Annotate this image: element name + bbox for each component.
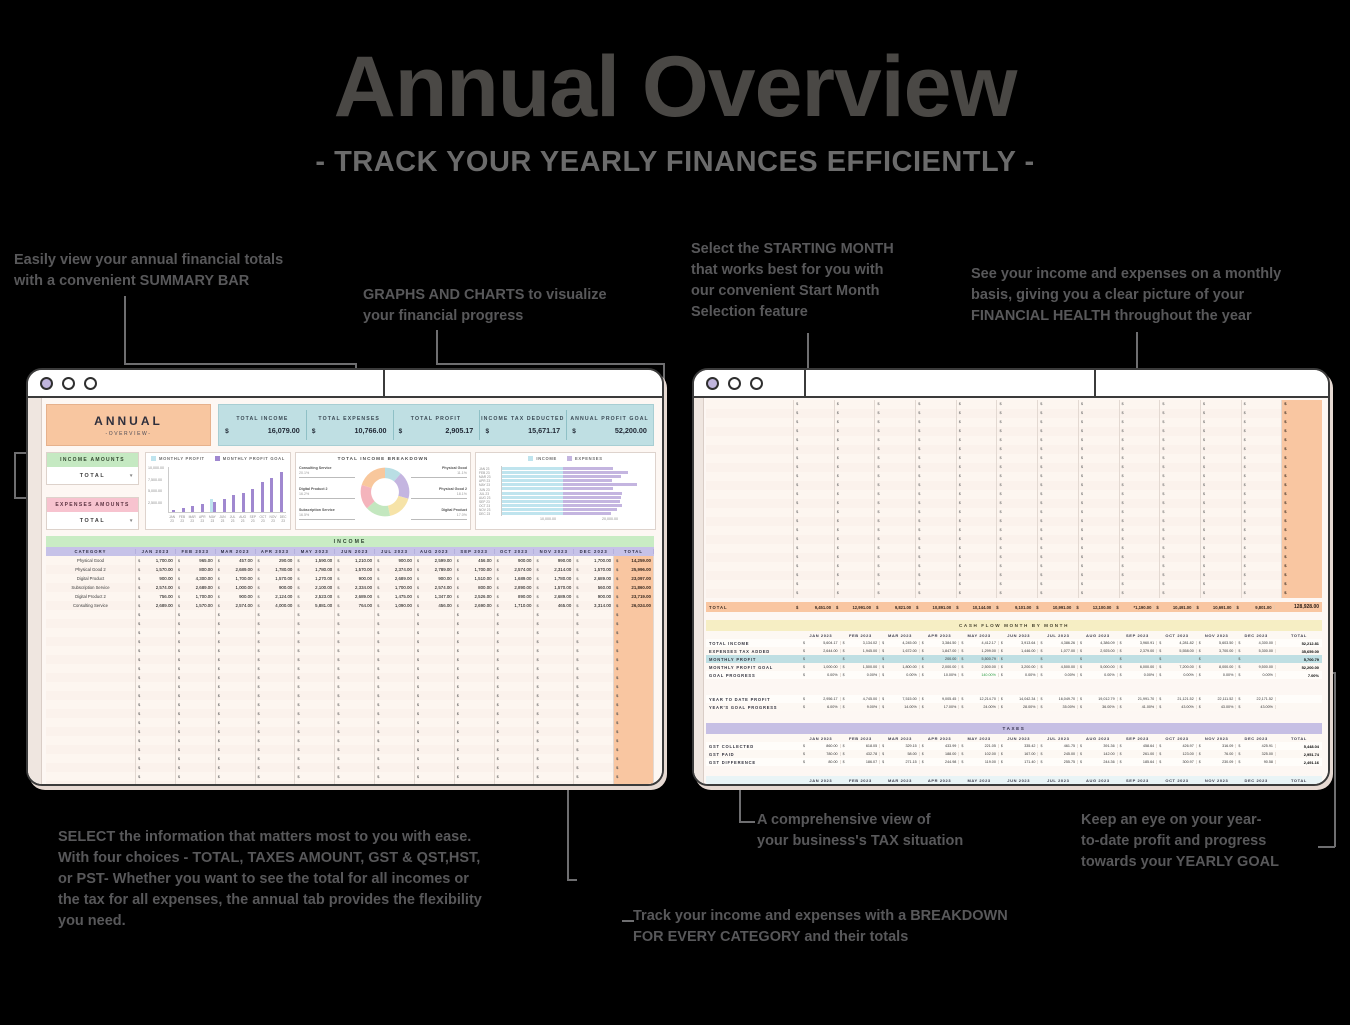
- value-cell[interactable]: $: [1038, 427, 1079, 436]
- value-cell[interactable]: $: [495, 709, 535, 718]
- value-cell[interactable]: $: [835, 508, 876, 517]
- table-row[interactable]: $$$$$$$$$$$$$: [46, 781, 654, 784]
- value-cell[interactable]: $: [1242, 508, 1283, 517]
- value-cell[interactable]: $: [997, 535, 1038, 544]
- value-cell[interactable]: $5,000.00: [1078, 665, 1118, 669]
- value-cell[interactable]: $: [1160, 508, 1201, 517]
- category-cell[interactable]: [706, 481, 794, 490]
- value-cell[interactable]: $: [375, 619, 415, 628]
- column-header[interactable]: JUN 2023: [999, 778, 1039, 783]
- value-cell[interactable]: $2,574.00: [495, 565, 535, 574]
- value-cell[interactable]: $: [295, 664, 335, 673]
- income-amounts-selector[interactable]: INCOME AMOUNTS TOTAL ▾: [46, 452, 139, 485]
- value-cell[interactable]: $: [1201, 508, 1242, 517]
- pst-section[interactable]: JAN 2023FEB 2023MAR 2023APR 2023MAY 2023…: [706, 776, 1322, 784]
- value-cell[interactable]: $22,171.52: [1236, 697, 1276, 701]
- value-cell[interactable]: $: [415, 664, 455, 673]
- value-cell[interactable]: $: [495, 736, 535, 745]
- value-cell[interactable]: $: [176, 691, 216, 700]
- value-cell[interactable]: $900.00: [256, 583, 296, 592]
- column-header[interactable]: MAR 2023: [880, 633, 920, 638]
- value-cell[interactable]: $: [916, 400, 957, 409]
- value-cell[interactable]: $: [1160, 535, 1201, 544]
- value-cell[interactable]: $: [916, 589, 957, 598]
- value-cell[interactable]: $1,689.00: [495, 574, 535, 583]
- value-cell[interactable]: $: [1120, 562, 1161, 571]
- value-cell[interactable]: $: [534, 691, 574, 700]
- column-header[interactable]: FEB 2023: [841, 736, 881, 741]
- value-cell[interactable]: $: [335, 745, 375, 754]
- value-cell[interactable]: $: [1079, 418, 1120, 427]
- column-header[interactable]: TOTAL: [1276, 778, 1322, 783]
- value-cell[interactable]: $: [534, 610, 574, 619]
- value-cell[interactable]: $: [1201, 454, 1242, 463]
- value-cell[interactable]: $: [835, 427, 876, 436]
- value-cell[interactable]: $: [794, 445, 835, 454]
- value-cell[interactable]: $: [495, 691, 535, 700]
- value-cell[interactable]: $4,281.82: [1157, 641, 1197, 645]
- value-cell[interactable]: $: [875, 589, 916, 598]
- value-cell[interactable]: $167.00: [999, 752, 1039, 756]
- value-cell[interactable]: $: [176, 682, 216, 691]
- value-cell[interactable]: $244.36: [1078, 760, 1118, 764]
- value-cell[interactable]: $: [574, 754, 614, 763]
- value-cell[interactable]: $: [1038, 508, 1079, 517]
- value-cell[interactable]: $: [375, 637, 415, 646]
- category-cell[interactable]: [706, 418, 794, 427]
- value-cell[interactable]: $: [216, 709, 256, 718]
- category-cell[interactable]: [706, 508, 794, 517]
- value-cell[interactable]: $: [835, 589, 876, 598]
- column-header[interactable]: JUL 2023: [1038, 633, 1078, 638]
- category-cell[interactable]: [706, 571, 794, 580]
- value-cell[interactable]: $: [1038, 580, 1079, 589]
- table-row[interactable]: GST DIFFERENCE$80.00$186.07$271.15$244.9…: [706, 758, 1322, 766]
- value-cell[interactable]: $: [256, 637, 296, 646]
- value-cell[interactable]: $: [1120, 517, 1161, 526]
- value-cell[interactable]: $329.15: [880, 744, 920, 748]
- value-cell[interactable]: $: [916, 553, 957, 562]
- value-cell[interactable]: $900.00: [415, 574, 455, 583]
- value-cell[interactable]: $4,386.26: [1038, 641, 1078, 645]
- value-cell[interactable]: $: [176, 655, 216, 664]
- value-cell[interactable]: $: [875, 454, 916, 463]
- value-cell[interactable]: $: [375, 709, 415, 718]
- value-cell[interactable]: $: [295, 763, 335, 772]
- column-header[interactable]: MAR 2023: [880, 778, 920, 783]
- value-cell[interactable]: $: [916, 535, 957, 544]
- table-row[interactable]: MONTHLY PROFIT GOAL$1,000.00$1,500.00$1,…: [706, 663, 1322, 671]
- category-cell[interactable]: [46, 682, 136, 691]
- value-cell[interactable]: $: [176, 745, 216, 754]
- value-cell[interactable]: $: [957, 499, 998, 508]
- value-cell[interactable]: $: [1201, 526, 1242, 535]
- column-header[interactable]: JUN 2023: [335, 549, 375, 554]
- left-spreadsheet[interactable]: ANNUAL -OVERVIEW- TOTAL INCOME$16,079.00…: [28, 398, 662, 784]
- table-row[interactable]: $$$$$$$$$$$$$: [706, 472, 1322, 481]
- value-cell[interactable]: $1,077.00: [1038, 649, 1078, 653]
- value-cell[interactable]: $: [835, 418, 876, 427]
- value-cell[interactable]: $433.99: [920, 744, 960, 748]
- table-row[interactable]: $$$$$$$$$$$$$: [706, 418, 1322, 427]
- value-cell[interactable]: $: [534, 637, 574, 646]
- table-row[interactable]: Digital Product$900.00$4,300.00$1,700.00…: [46, 574, 654, 583]
- value-cell[interactable]: $5,558.00: [1157, 649, 1197, 653]
- value-cell[interactable]: $2,689.00: [335, 592, 375, 601]
- value-cell[interactable]: $: [1079, 526, 1120, 535]
- category-cell[interactable]: [46, 637, 136, 646]
- table-row[interactable]: $$$$$$$$$$$$$: [46, 718, 654, 727]
- value-cell[interactable]: $465.00: [534, 601, 574, 610]
- value-cell[interactable]: $: [415, 781, 455, 784]
- value-cell[interactable]: $800.00: [455, 583, 495, 592]
- value-cell[interactable]: $: [1242, 535, 1283, 544]
- value-cell[interactable]: $: [534, 700, 574, 709]
- value-cell[interactable]: $: [1242, 436, 1283, 445]
- value-cell[interactable]: $22,111.52: [1197, 697, 1237, 701]
- category-cell[interactable]: [706, 499, 794, 508]
- value-cell[interactable]: $2,690.00: [455, 601, 495, 610]
- table-row[interactable]: $$$$$$$$$$$$$: [46, 763, 654, 772]
- value-cell[interactable]: $0.00%: [1038, 673, 1078, 677]
- column-header[interactable]: JUL 2023: [375, 549, 415, 554]
- value-cell[interactable]: $: [136, 664, 176, 673]
- value-cell[interactable]: $3,134.02: [841, 641, 881, 645]
- value-cell[interactable]: $: [415, 718, 455, 727]
- value-cell[interactable]: $: [216, 628, 256, 637]
- value-cell[interactable]: $: [835, 400, 876, 409]
- value-cell[interactable]: $: [997, 562, 1038, 571]
- value-cell[interactable]: $: [916, 463, 957, 472]
- value-cell[interactable]: $: [1201, 499, 1242, 508]
- value-cell[interactable]: $: [1038, 490, 1079, 499]
- value-cell[interactable]: $: [375, 655, 415, 664]
- value-cell[interactable]: $: [1160, 490, 1201, 499]
- value-cell[interactable]: $: [136, 610, 176, 619]
- table-row[interactable]: YEAR'S GOAL PROGRESS$6.00%$9.00%$14.00%$…: [706, 703, 1322, 711]
- value-cell[interactable]: $: [335, 610, 375, 619]
- value-cell[interactable]: $: [1160, 454, 1201, 463]
- value-cell[interactable]: $391.36: [1078, 744, 1118, 748]
- column-header[interactable]: MAY 2023: [295, 549, 335, 554]
- value-cell[interactable]: $: [1079, 517, 1120, 526]
- category-cell[interactable]: Physical Good 2: [46, 565, 136, 574]
- value-cell[interactable]: $: [415, 709, 455, 718]
- ytd-section[interactable]: YEAR TO DATE PROFIT$2,956.17$4,745.00$7,…: [706, 695, 1322, 711]
- value-cell[interactable]: $: [1160, 427, 1201, 436]
- column-header[interactable]: JAN 2023: [801, 736, 841, 741]
- table-row[interactable]: $$$$$$$$$$$$$: [706, 445, 1322, 454]
- value-cell[interactable]: $: [916, 508, 957, 517]
- value-cell[interactable]: $: [415, 646, 455, 655]
- column-header[interactable]: NOV 2023: [1197, 633, 1237, 638]
- category-cell[interactable]: [706, 463, 794, 472]
- value-cell[interactable]: $: [375, 691, 415, 700]
- value-cell[interactable]: $4,412.17: [959, 641, 999, 645]
- table-row[interactable]: $$$$$$$$$$$$$: [46, 655, 654, 664]
- column-header[interactable]: TOTAL: [1276, 736, 1322, 741]
- value-cell[interactable]: $: [295, 628, 335, 637]
- value-cell[interactable]: $3,200.00: [999, 665, 1039, 669]
- value-cell[interactable]: $325.00: [1236, 752, 1276, 756]
- value-cell[interactable]: $: [375, 781, 415, 784]
- value-cell[interactable]: $: [295, 745, 335, 754]
- value-cell[interactable]: $0.00%: [1078, 673, 1118, 677]
- value-cell[interactable]: $: [835, 517, 876, 526]
- table-row[interactable]: $$$$$$$$$$$$$: [46, 709, 654, 718]
- value-cell[interactable]: $: [256, 727, 296, 736]
- value-cell[interactable]: $: [216, 637, 256, 646]
- value-cell[interactable]: $: [256, 781, 296, 784]
- value-cell[interactable]: $200.00: [920, 657, 960, 661]
- value-cell[interactable]: $: [835, 472, 876, 481]
- value-cell[interactable]: $90.58: [1236, 760, 1276, 764]
- column-header[interactable]: OCT 2023: [1157, 633, 1197, 638]
- value-cell[interactable]: $21,991.70: [1118, 697, 1158, 701]
- value-cell[interactable]: $: [1079, 562, 1120, 571]
- value-cell[interactable]: $: [534, 754, 574, 763]
- category-cell[interactable]: Digital Product 2: [46, 592, 136, 601]
- value-cell[interactable]: $: [415, 745, 455, 754]
- value-cell[interactable]: $: [295, 772, 335, 781]
- value-cell[interactable]: $: [1120, 409, 1161, 418]
- value-cell[interactable]: $: [335, 781, 375, 784]
- value-cell[interactable]: $: [1160, 400, 1201, 409]
- value-cell[interactable]: $: [875, 526, 916, 535]
- value-cell[interactable]: $1,510.00: [455, 574, 495, 583]
- value-cell[interactable]: $: [997, 589, 1038, 598]
- value-cell[interactable]: $: [794, 499, 835, 508]
- value-cell[interactable]: $: [534, 727, 574, 736]
- value-cell[interactable]: $3,314.00: [574, 601, 614, 610]
- value-cell[interactable]: $: [375, 610, 415, 619]
- value-cell[interactable]: $: [1201, 490, 1242, 499]
- value-cell[interactable]: $: [415, 610, 455, 619]
- column-header[interactable]: AUG 2023: [1078, 736, 1118, 741]
- value-cell[interactable]: $: [216, 655, 256, 664]
- value-cell[interactable]: $: [1201, 562, 1242, 571]
- value-cell[interactable]: $: [1079, 535, 1120, 544]
- category-cell[interactable]: Consulting Service: [46, 601, 136, 610]
- value-cell[interactable]: $: [997, 481, 1038, 490]
- category-cell[interactable]: [46, 772, 136, 781]
- value-cell[interactable]: $: [875, 472, 916, 481]
- value-cell[interactable]: $: [415, 763, 455, 772]
- value-cell[interactable]: $: [1079, 400, 1120, 409]
- column-header[interactable]: TOTAL: [614, 549, 654, 554]
- table-row[interactable]: GST COLLECTED$860.00$618.05$329.15$433.9…: [706, 742, 1322, 750]
- category-cell[interactable]: [706, 544, 794, 553]
- value-cell[interactable]: $1,780.00: [256, 565, 296, 574]
- category-cell[interactable]: [706, 445, 794, 454]
- value-cell[interactable]: $: [1120, 490, 1161, 499]
- value-cell[interactable]: $8,000.00: [1197, 665, 1237, 669]
- value-cell[interactable]: $: [495, 682, 535, 691]
- category-cell[interactable]: Subscription Service: [46, 583, 136, 592]
- value-cell[interactable]: $: [216, 691, 256, 700]
- value-cell[interactable]: $19,012.79: [1078, 697, 1118, 701]
- value-cell[interactable]: $1,570.00: [256, 574, 296, 583]
- value-cell[interactable]: $: [335, 754, 375, 763]
- value-cell[interactable]: $: [335, 628, 375, 637]
- value-cell[interactable]: $1,780.00: [534, 574, 574, 583]
- value-cell[interactable]: $43.00%: [1157, 705, 1197, 709]
- value-cell[interactable]: $: [136, 691, 176, 700]
- value-cell[interactable]: $: [574, 610, 614, 619]
- column-header[interactable]: MAY 2023: [959, 633, 999, 638]
- value-cell[interactable]: $: [256, 736, 296, 745]
- window-maximize-button[interactable]: [750, 377, 763, 390]
- value-cell[interactable]: $: [1079, 409, 1120, 418]
- column-header[interactable]: JAN 2023: [801, 778, 841, 783]
- value-cell[interactable]: $: [1160, 571, 1201, 580]
- value-cell[interactable]: $: [835, 445, 876, 454]
- table-row[interactable]: $$$$$$$$$$$$$: [706, 589, 1322, 598]
- value-cell[interactable]: $: [1120, 544, 1161, 553]
- value-cell[interactable]: $: [136, 718, 176, 727]
- value-cell[interactable]: $: [176, 646, 216, 655]
- value-cell[interactable]: $43.00%: [1197, 705, 1237, 709]
- category-cell[interactable]: [706, 562, 794, 571]
- value-cell[interactable]: $: [455, 619, 495, 628]
- category-cell[interactable]: [46, 673, 136, 682]
- value-cell[interactable]: $244.98: [920, 760, 960, 764]
- category-cell[interactable]: [46, 781, 136, 784]
- value-cell[interactable]: $: [295, 754, 335, 763]
- value-cell[interactable]: $: [335, 619, 375, 628]
- value-cell[interactable]: $: [1038, 445, 1079, 454]
- value-cell[interactable]: $: [1201, 589, 1242, 598]
- value-cell[interactable]: $: [1079, 508, 1120, 517]
- value-cell[interactable]: $: [1160, 499, 1201, 508]
- table-row[interactable]: $$$$$$$$$$$$$: [706, 463, 1322, 472]
- value-cell[interactable]: $: [794, 571, 835, 580]
- value-cell[interactable]: $: [136, 682, 176, 691]
- value-cell[interactable]: $: [295, 700, 335, 709]
- column-header[interactable]: FEB 2023: [841, 633, 881, 638]
- value-cell[interactable]: $: [574, 772, 614, 781]
- column-header[interactable]: SEP 2023: [1118, 778, 1158, 783]
- value-cell[interactable]: $: [335, 637, 375, 646]
- value-cell[interactable]: $: [495, 655, 535, 664]
- gst-rows[interactable]: GST COLLECTED$860.00$618.05$329.15$433.9…: [706, 742, 1322, 766]
- ytd-rows[interactable]: YEAR TO DATE PROFIT$2,956.17$4,745.00$7,…: [706, 695, 1322, 711]
- value-cell[interactable]: $: [216, 664, 256, 673]
- table-row[interactable]: $$$$$$$$$$$$$: [706, 400, 1322, 409]
- table-row[interactable]: $$$$$$$$$$$$$: [706, 409, 1322, 418]
- value-cell[interactable]: $: [534, 646, 574, 655]
- value-cell[interactable]: $: [875, 490, 916, 499]
- value-cell[interactable]: $: [1120, 427, 1161, 436]
- table-row[interactable]: $$$$$$$$$$$$$: [46, 772, 654, 781]
- value-cell[interactable]: $221.05: [959, 744, 999, 748]
- value-cell[interactable]: $: [455, 691, 495, 700]
- value-cell[interactable]: $: [1079, 427, 1120, 436]
- value-cell[interactable]: $: [997, 499, 1038, 508]
- value-cell[interactable]: $: [997, 400, 1038, 409]
- value-cell[interactable]: $: [415, 727, 455, 736]
- value-cell[interactable]: $: [1201, 445, 1242, 454]
- value-cell[interactable]: $: [295, 610, 335, 619]
- value-cell[interactable]: $: [916, 418, 957, 427]
- expenses-amounts-selector[interactable]: EXPENSES AMOUNTS TOTAL ▾: [46, 497, 139, 530]
- value-cell[interactable]: $43.00%: [1236, 705, 1276, 709]
- value-cell[interactable]: $0.00%: [1236, 673, 1276, 677]
- value-cell[interactable]: $2,574.00: [136, 583, 176, 592]
- value-cell[interactable]: $: [875, 508, 916, 517]
- value-cell[interactable]: $: [835, 463, 876, 472]
- table-row[interactable]: Subscription Service$2,574.00$2,689.00$1…: [46, 583, 654, 592]
- value-cell[interactable]: $: [216, 646, 256, 655]
- value-cell[interactable]: $: [1120, 571, 1161, 580]
- window-maximize-button[interactable]: [84, 377, 97, 390]
- column-header[interactable]: APR 2023: [920, 778, 960, 783]
- value-cell[interactable]: $: [176, 610, 216, 619]
- column-header[interactable]: MAR 2023: [880, 736, 920, 741]
- value-cell[interactable]: $185.64: [1118, 760, 1158, 764]
- value-cell[interactable]: $: [916, 472, 957, 481]
- value-cell[interactable]: $: [574, 655, 614, 664]
- table-row[interactable]: $$$$$$$$$$$$$: [706, 526, 1322, 535]
- value-cell[interactable]: $: [534, 655, 574, 664]
- value-cell[interactable]: $: [495, 781, 535, 784]
- value-cell[interactable]: $425.91: [1236, 744, 1276, 748]
- category-cell[interactable]: [46, 664, 136, 673]
- column-header[interactable]: FEB 2023: [841, 778, 881, 783]
- table-row[interactable]: $$$$$$$$$$$$$: [46, 745, 654, 754]
- value-cell[interactable]: $: [957, 589, 998, 598]
- value-cell[interactable]: $: [997, 418, 1038, 427]
- value-cell[interactable]: $2,523.00: [295, 592, 335, 601]
- value-cell[interactable]: $: [295, 637, 335, 646]
- value-cell[interactable]: $: [835, 499, 876, 508]
- value-cell[interactable]: $: [1242, 553, 1283, 562]
- value-cell[interactable]: $: [375, 628, 415, 637]
- column-header[interactable]: NOV 2023: [534, 549, 574, 554]
- table-row[interactable]: GST PAID$780.00$432.78$58.00$188.00$102.…: [706, 750, 1322, 758]
- value-cell[interactable]: $: [875, 436, 916, 445]
- value-cell[interactable]: $: [1242, 571, 1283, 580]
- value-cell[interactable]: $1,000.00: [801, 665, 841, 669]
- value-cell[interactable]: $: [415, 700, 455, 709]
- value-cell[interactable]: $2,574.00: [216, 601, 256, 610]
- value-cell[interactable]: $: [1079, 481, 1120, 490]
- value-cell[interactable]: $2,689.00: [216, 565, 256, 574]
- value-cell[interactable]: $: [495, 700, 535, 709]
- value-cell[interactable]: $: [1038, 535, 1079, 544]
- value-cell[interactable]: $: [415, 637, 455, 646]
- value-cell[interactable]: $: [136, 763, 176, 772]
- value-cell[interactable]: $2,526.00: [455, 592, 495, 601]
- value-cell[interactable]: $: [835, 544, 876, 553]
- value-cell[interactable]: $36.00%: [1078, 705, 1118, 709]
- value-cell[interactable]: $: [957, 544, 998, 553]
- value-cell[interactable]: $: [794, 589, 835, 598]
- value-cell[interactable]: $1,570.00: [574, 565, 614, 574]
- value-cell[interactable]: $: [534, 619, 574, 628]
- value-cell[interactable]: $1,590.00: [295, 556, 335, 565]
- value-cell[interactable]: $: [335, 673, 375, 682]
- value-cell[interactable]: $: [216, 718, 256, 727]
- value-cell[interactable]: $: [574, 781, 614, 784]
- value-cell[interactable]: $: [455, 781, 495, 784]
- category-cell[interactable]: [46, 691, 136, 700]
- value-cell[interactable]: $: [495, 745, 535, 754]
- value-cell[interactable]: $: [256, 709, 296, 718]
- value-cell[interactable]: $: [375, 736, 415, 745]
- table-row[interactable]: MONTHLY PROFIT$$$$200.00$5,500.79$$$$$$$…: [706, 655, 1322, 663]
- value-cell[interactable]: $: [455, 664, 495, 673]
